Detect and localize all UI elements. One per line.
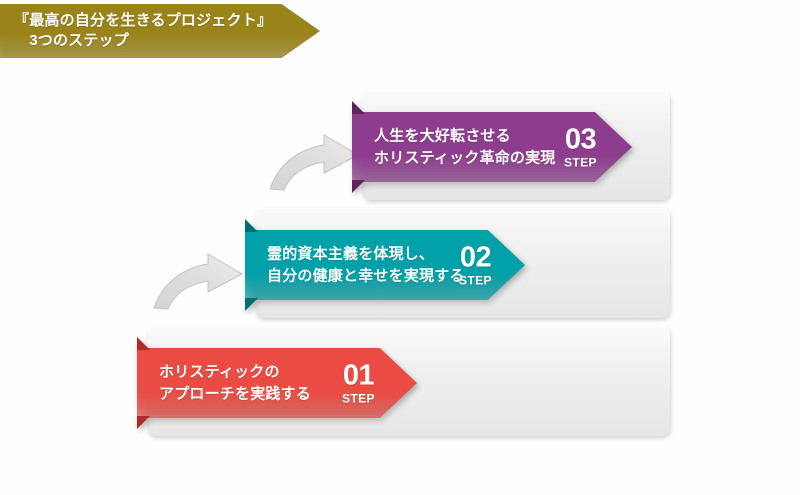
curved-up-right-arrow-icon: [268, 133, 360, 191]
step-arrow-1[interactable]: ホリスティックの アプローチを実践する 01 STEP: [137, 348, 417, 418]
step-arrow-2-badge: 02 STEP: [459, 244, 492, 287]
step-arrow-3-number: 03: [564, 126, 597, 155]
step-arrow-3-text: 人生を大好転させる ホリスティック革命の実現: [374, 125, 556, 169]
step-arrow-1-text: ホリスティックの アプローチを実践する: [159, 361, 311, 405]
infographic-canvas: 『最高の自分を生きるプロジェクト』 3つのステップ: [0, 0, 800, 495]
step-arrow-2[interactable]: 霊的資本主義を体現し、 自分の健康と幸せを実現する 02 STEP: [245, 230, 525, 300]
header-title: 『最高の自分を生きるプロジェクト』 3つのステップ: [14, 11, 274, 52]
step-arrow-2-step-label: STEP: [459, 275, 492, 287]
curved-up-right-arrow-icon: [152, 252, 244, 310]
step-arrow-1-badge: 01 STEP: [342, 362, 375, 405]
step-arrow-1-step-label: STEP: [342, 393, 375, 405]
step-arrow-2-number: 02: [459, 244, 492, 273]
connector-arrow-1-to-2: [152, 252, 244, 310]
step-arrow-2-text: 霊的資本主義を体現し、 自分の健康と幸せを実現する: [267, 243, 465, 287]
step-arrow-1-number: 01: [342, 362, 375, 391]
header-banner: 『最高の自分を生きるプロジェクト』 3つのステップ: [0, 4, 320, 58]
step-arrow-3-badge: 03 STEP: [564, 126, 597, 169]
step-arrow-3[interactable]: 人生を大好転させる ホリスティック革命の実現 03 STEP: [352, 112, 632, 182]
connector-arrow-2-to-3: [268, 133, 360, 191]
step-arrow-3-step-label: STEP: [564, 157, 597, 169]
